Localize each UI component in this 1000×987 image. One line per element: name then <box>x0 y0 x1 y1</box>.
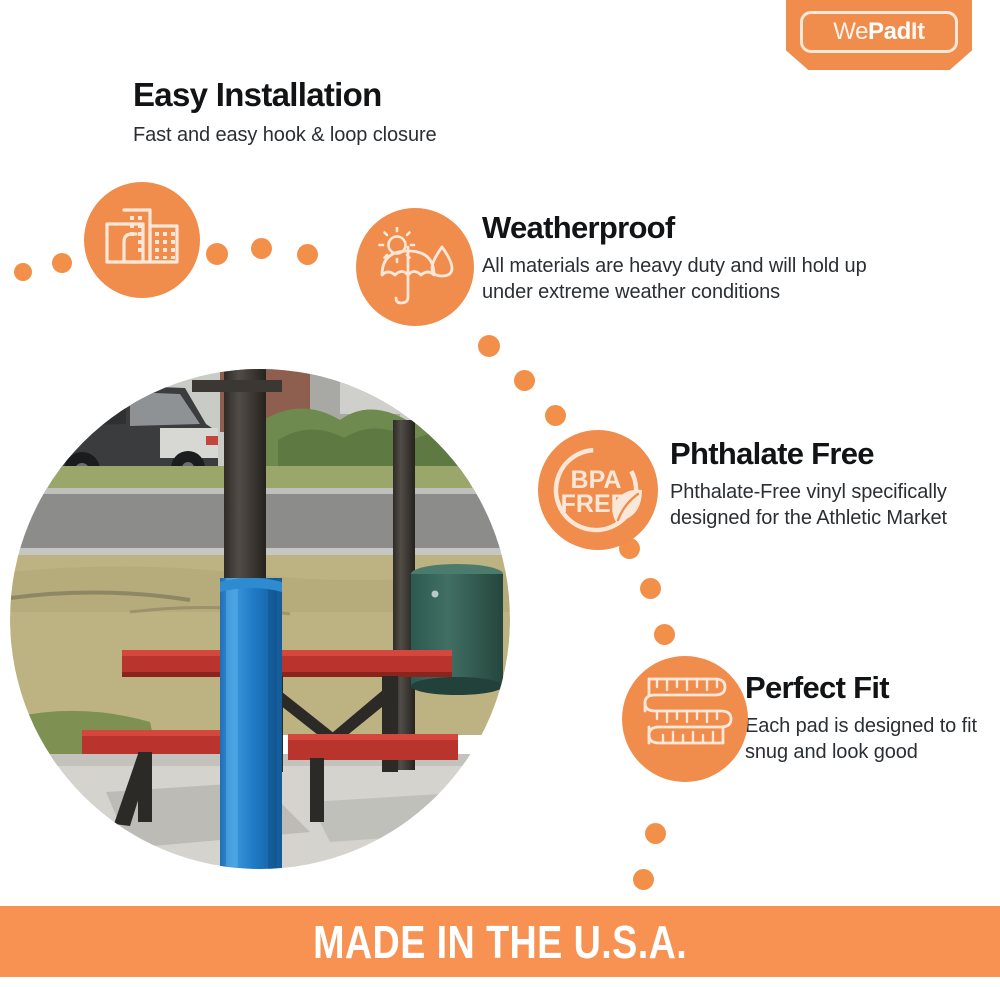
product-photo-illustration <box>10 362 510 877</box>
trail-dot <box>478 335 500 357</box>
logo-text-we: We <box>833 18 868 45</box>
umbrella-sun-rain-icon <box>356 208 474 326</box>
trail-dot <box>640 578 661 599</box>
logo-wordmark: WePadIt <box>833 20 924 44</box>
feature-description: All materials are heavy duty and will ho… <box>482 253 902 305</box>
measuring-tape-icon <box>622 656 748 782</box>
feature-phthalate-free: Phthalate Free Phthalate-Free vinyl spec… <box>670 438 970 531</box>
feature-title: Easy Installation <box>133 78 553 113</box>
feature-description: Each pad is designed to fit snug and loo… <box>745 713 985 765</box>
logo-outline-box: WePadIt <box>800 11 958 53</box>
trail-dot <box>545 405 566 426</box>
feature-title: Weatherproof <box>482 212 902 245</box>
feature-description: Phthalate-Free vinyl specifically design… <box>670 479 970 531</box>
feature-title: Perfect Fit <box>745 672 985 705</box>
logo-text-it: It <box>911 18 925 45</box>
feature-perfect-fit: Perfect Fit Each pad is designed to fit … <box>745 672 985 765</box>
feature-title: Phthalate Free <box>670 438 970 471</box>
trail-dot <box>645 823 666 844</box>
made-in-usa-text: MADE IN THE U.S.A. <box>313 919 687 965</box>
feature-easy-installation: Easy Installation Fast and easy hook & l… <box>133 78 553 148</box>
trail-dot <box>633 869 654 890</box>
trail-dot <box>14 263 32 281</box>
trail-dot <box>297 244 318 265</box>
logo-text-pad: Pad <box>868 18 911 45</box>
product-photo <box>10 362 510 877</box>
feature-description: Fast and easy hook & loop closure <box>133 122 553 148</box>
trail-dot <box>654 624 675 645</box>
brand-logo: WePadIt <box>786 0 972 70</box>
trail-dot <box>514 370 535 391</box>
trail-dot <box>206 243 228 265</box>
hook-and-loop-icon <box>84 182 200 298</box>
feature-weatherproof: Weatherproof All materials are heavy dut… <box>482 212 902 305</box>
trail-dot <box>251 238 272 259</box>
made-in-usa-banner: MADE IN THE U.S.A. <box>0 906 1000 977</box>
trail-dot <box>52 253 72 273</box>
infographic-canvas: WePadIt Easy Installation Fast and easy … <box>0 0 1000 987</box>
bpa-free-leaf-icon: BPA FREE <box>538 430 658 550</box>
